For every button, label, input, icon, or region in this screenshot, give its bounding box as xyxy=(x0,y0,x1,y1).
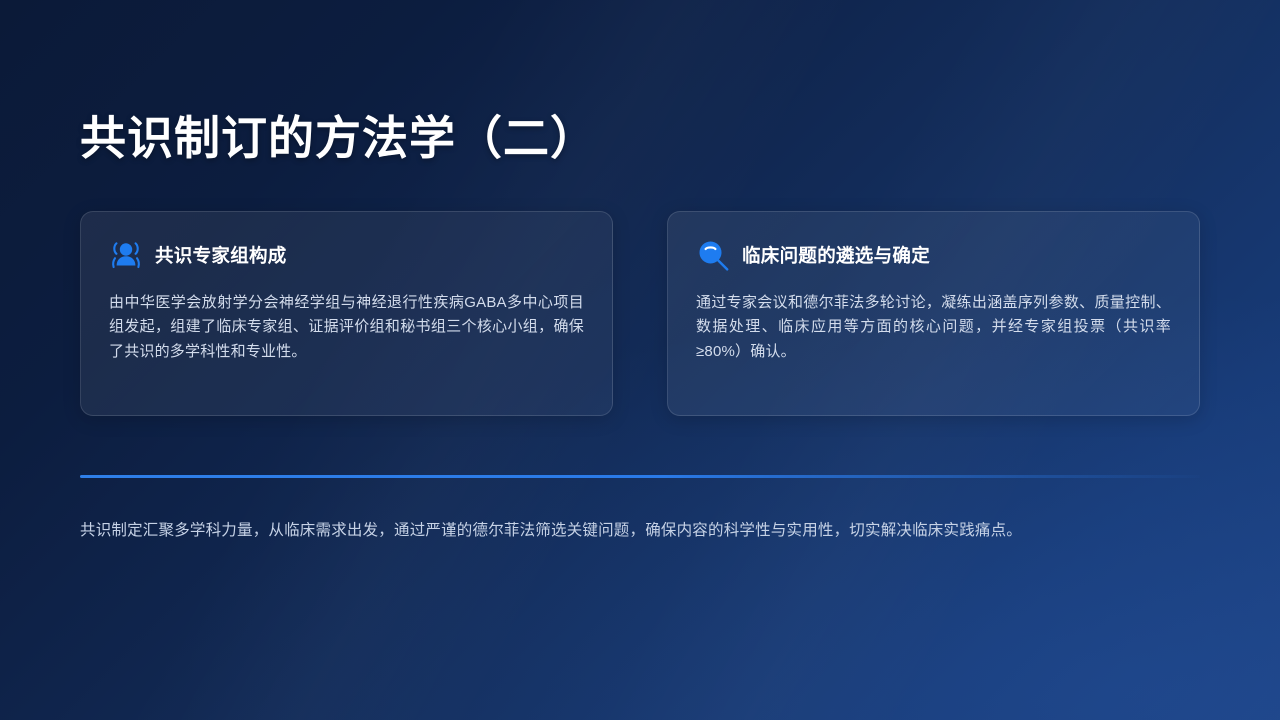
slide-canvas: 共识制订的方法学（二） 共识专家组构成 由中华医学会放射学分会神经学组与神经退行… xyxy=(0,0,1280,720)
card-title: 共识专家组构成 xyxy=(155,242,287,268)
page-title: 共识制订的方法学（二） xyxy=(80,113,597,164)
card-header: 临床问题的遴选与确定 xyxy=(696,238,1171,272)
user-broadcast-icon xyxy=(109,238,149,272)
card-body-text: 由中华医学会放射学分会神经学组与神经退行性疾病GABA多中心项目组发起，组建了临… xyxy=(109,291,584,364)
magnifier-icon xyxy=(696,238,736,272)
card-title: 临床问题的遴选与确定 xyxy=(742,242,930,268)
cards-row: 共识专家组构成 由中华医学会放射学分会神经学组与神经退行性疾病GABA多中心项目… xyxy=(80,211,1200,416)
section-divider xyxy=(80,475,1200,478)
card-clinical-questions[interactable]: 临床问题的遴选与确定 通过专家会议和德尔菲法多轮讨论，凝练出涵盖序列参数、质量控… xyxy=(667,211,1200,416)
card-header: 共识专家组构成 xyxy=(109,238,584,272)
card-body-text: 通过专家会议和德尔菲法多轮讨论，凝练出涵盖序列参数、质量控制、数据处理、临床应用… xyxy=(696,291,1171,364)
card-expert-group[interactable]: 共识专家组构成 由中华医学会放射学分会神经学组与神经退行性疾病GABA多中心项目… xyxy=(80,211,613,416)
summary-text: 共识制定汇聚多学科力量，从临床需求出发，通过严谨的德尔菲法筛选关键问题，确保内容… xyxy=(80,518,1202,545)
